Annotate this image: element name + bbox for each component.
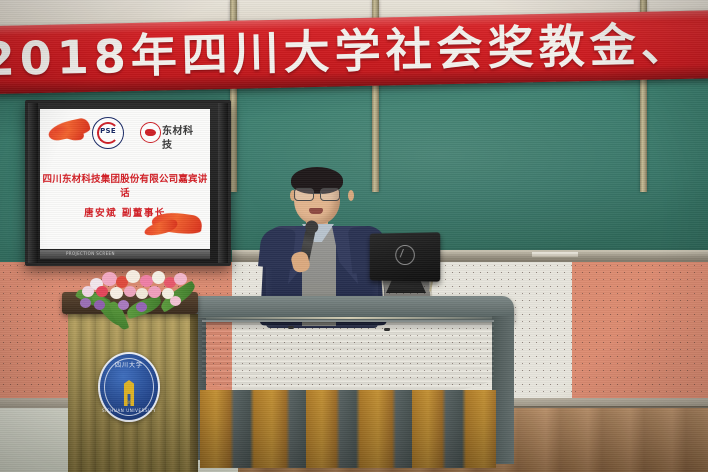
console-front-panel [202,320,494,396]
flower [136,288,148,299]
flower [102,272,117,286]
red-ribbon-bottom-tail-icon [143,218,179,239]
glasses-lens-right [320,188,340,201]
glasses-icon [293,188,341,199]
flower [80,298,91,308]
flower [136,302,147,312]
presentation-slide: PSE 东材科技 四川东材科技集团股份有限公司嘉宾讲话 唐安斌 副董事长 [40,109,210,249]
banner-text: 2018年四川大学社会奖教金、 [0,13,692,90]
projection-screen: PSE 东材科技 四川东材科技集团股份有限公司嘉宾讲话 唐安斌 副董事长 PRO… [25,100,231,266]
flower [118,300,129,310]
dongcai-mark-icon [140,122,161,143]
flower [170,296,181,306]
console-latch-2[interactable] [384,328,390,331]
console-worktop [184,296,514,322]
screen-bar-label: PROJECTION SCREEN [66,251,115,256]
pse-logo-icon: PSE [92,117,124,149]
sichuan-university-emblem-icon: 四川大学 1896 SICHUAN UNIVERSITY [98,352,160,422]
emblem-chinese-name: 四川大学 [100,360,158,369]
speaker-shoulder-left [258,226,296,269]
emblem-year: 1896 [100,400,158,405]
console-latch-1[interactable] [288,326,294,329]
dongcai-logo-label: 东材科技 [162,125,202,153]
flower [94,300,105,310]
glasses-lens-left [294,188,314,201]
slide-title-line: 四川东材科技集团股份有限公司嘉宾讲话 [40,171,210,199]
emblem-english-name: SICHUAN UNIVERSITY [100,408,158,413]
slide-logo-row: PSE 东材科技 [40,113,210,147]
dell-monitor [370,232,440,281]
dongcai-technology-logo-icon: 东材科技 [140,121,202,143]
flower [124,286,136,297]
acoustic-panel-salmon-right [572,262,708,412]
flower [96,286,108,297]
pse-logo-label: PSE [93,127,123,135]
flower [110,287,123,299]
teaching-console-desk [184,296,514,472]
flower [82,286,94,297]
screen-frame-left [28,103,38,263]
podium-right-edge [190,314,198,472]
lecture-hall-photo: 2018年四川大学社会奖教金、 PSE 东材科技 四川东材科技集团股份有限公司嘉… [0,0,708,472]
flower [148,286,161,298]
flower [174,273,187,285]
screen-bottom-bar: PROJECTION SCREEN [40,250,210,259]
speaker-mouth [309,208,323,214]
flower [126,270,140,283]
speaker-ear-right [348,190,354,201]
screen-frame-right [218,103,228,263]
console-base-panels [200,390,496,468]
flower-arrangement [74,270,200,324]
dell-logo-icon [395,245,415,265]
chalk-tray-clip-2 [532,252,578,257]
